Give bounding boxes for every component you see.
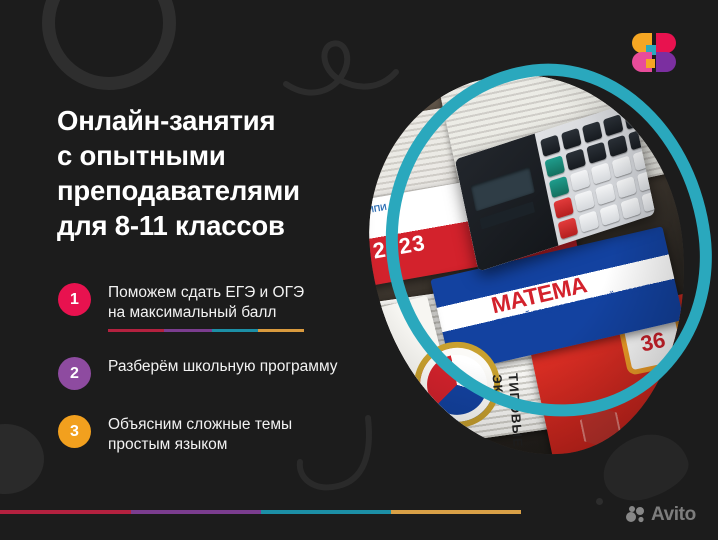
decorative-ring (42, 0, 176, 90)
decorative-dot (596, 498, 603, 505)
list-item: 3 Объясним сложные темы простым языком (58, 414, 388, 455)
decorative-blob-left (0, 424, 44, 494)
benefit-text: Объясним сложные темы простым языком (108, 416, 292, 453)
accent-rule (108, 329, 304, 332)
avito-watermark: Avito (626, 505, 696, 524)
list-item: 1 Поможем сдать ЕГЭ и ОГЭ на максимальны… (58, 282, 388, 332)
avito-dots-icon (626, 506, 646, 523)
benefit-number-badge: 1 (58, 283, 91, 316)
avito-wordmark: Avito (651, 505, 696, 524)
benefit-text: Поможем сдать ЕГЭ и ОГЭ на максимальный … (108, 284, 304, 321)
study-materials-photo: ФИПИ ЕГЭ 2023 36 МАТЕМА ЕДИНЫЙ ГОСУДАРСТ… (372, 60, 702, 472)
benefit-number-badge: 3 (58, 415, 91, 448)
benefit-text: Разберём школьную программу (108, 358, 338, 375)
page-title: Онлайн-занятия с опытными преподавателям… (57, 103, 387, 243)
benefits-list: 1 Поможем сдать ЕГЭ и ОГЭ на максимальны… (58, 282, 388, 455)
benefit-number-badge: 2 (58, 357, 91, 390)
promo-banner: Онлайн-занятия с опытными преподавателям… (0, 0, 718, 540)
list-item: 2 Разберём школьную программу (58, 356, 388, 390)
bottom-color-bar (0, 510, 521, 514)
